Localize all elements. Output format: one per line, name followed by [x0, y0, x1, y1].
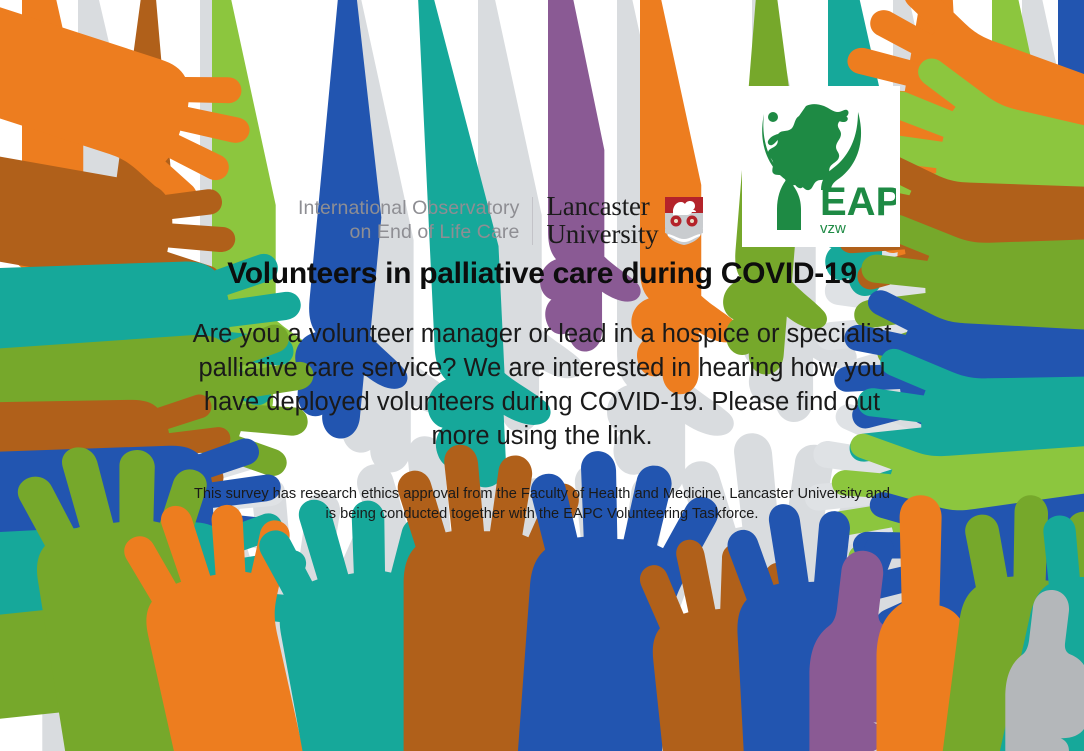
page-title: Volunteers in palliative care during COV… — [227, 257, 856, 291]
observatory-wordmark: International Observatory on End of Life… — [298, 197, 519, 245]
eapc-logo: EAPC vzw — [742, 86, 900, 247]
observatory-line-2: on End of Life Care — [298, 221, 519, 245]
eapc-acronym-text: EAPC — [820, 180, 896, 224]
lancaster-line-2: University — [546, 221, 658, 249]
lancaster-line-1: Lancaster — [546, 193, 658, 221]
lancaster-crest-icon — [663, 196, 705, 246]
ethics-statement: This survey has research ethics approval… — [189, 484, 895, 525]
poster-body-text: Are you a volunteer manager or lead in a… — [184, 317, 900, 454]
lancaster-wordmark: Lancaster University — [546, 193, 658, 248]
eapc-suffix-text: vzw — [820, 220, 846, 237]
lancaster-observatory-logo: International Observatory on End of Life… — [298, 193, 705, 248]
logo-divider — [532, 197, 533, 245]
poster-root: International Observatory on End of Life… — [0, 0, 1084, 751]
logo-bar: International Observatory on End of Life… — [150, 78, 934, 243]
poster-content: International Observatory on End of Life… — [150, 78, 934, 578]
observatory-line-1: International Observatory — [298, 197, 519, 221]
